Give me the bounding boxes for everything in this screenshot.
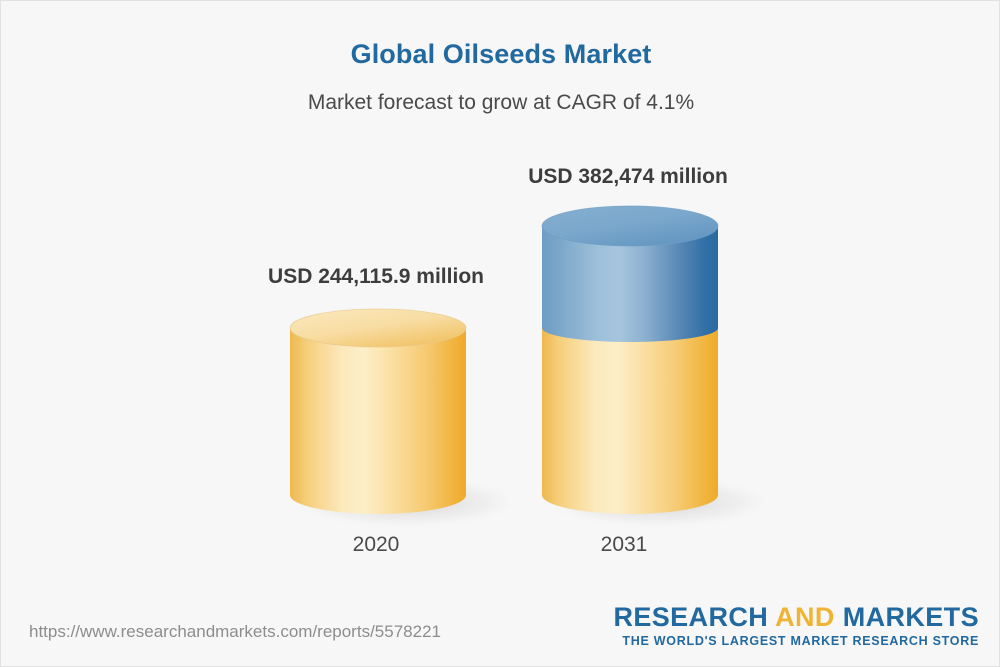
logo-word-markets: MARKETS (843, 602, 979, 632)
logo-word-and: AND (775, 602, 835, 632)
value-label-2020: USD 244,115.9 million (176, 265, 576, 289)
category-label-2031: 2031 (514, 533, 734, 557)
report-url[interactable]: https://www.researchandmarkets.com/repor… (29, 622, 441, 642)
category-label-2020: 2020 (266, 533, 486, 557)
bar-cylinder-2020 (283, 299, 473, 534)
bar-cylinder-2031 (535, 197, 725, 534)
plot-area: USD 244,115.9 million USD 382,474 millio… (1, 1, 1000, 601)
logo-wordmark: RESEARCH AND MARKETS (613, 603, 979, 631)
research-and-markets-logo[interactable]: RESEARCH AND MARKETS THE WORLD'S LARGEST… (613, 603, 979, 648)
value-label-2031: USD 382,474 million (428, 165, 828, 189)
chart-canvas: Global Oilseeds Market Market forecast t… (0, 0, 1000, 667)
logo-word-research: RESEARCH (613, 602, 768, 632)
logo-tagline: THE WORLD'S LARGEST MARKET RESEARCH STOR… (613, 634, 979, 648)
